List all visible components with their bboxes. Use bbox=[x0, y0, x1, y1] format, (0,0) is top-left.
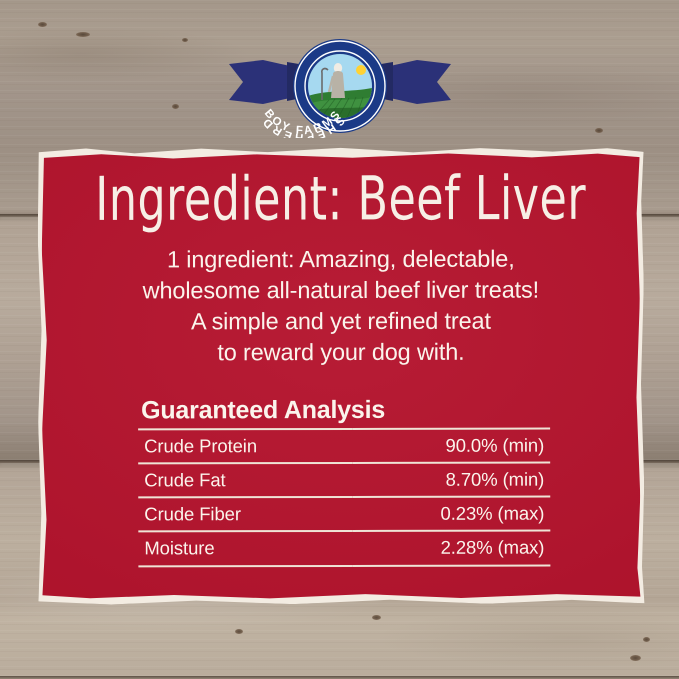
label-card-content: Ingredient: Beef Liver 1 ingredient: Ama… bbox=[42, 150, 641, 600]
nutrient-name: Crude Fat bbox=[138, 463, 352, 498]
description-line-3: A simple and yet refined treat bbox=[42, 305, 640, 337]
description-line-4: to reward your dog with. bbox=[42, 336, 640, 368]
nutrient-name: Crude Fiber bbox=[138, 497, 352, 532]
sun-icon bbox=[356, 65, 366, 75]
wood-knot bbox=[235, 629, 243, 634]
table-row: Moisture 2.28% (max) bbox=[138, 531, 550, 566]
table-row: Crude Protein 90.0% (min) bbox=[138, 429, 550, 464]
badge-scene bbox=[308, 54, 372, 118]
guaranteed-analysis-heading: Guaranteed Analysis bbox=[141, 395, 550, 426]
nutrient-name: Moisture bbox=[138, 531, 352, 566]
page-title: Ingredient: Beef Liver bbox=[89, 150, 591, 230]
guaranteed-analysis-table: Crude Protein 90.0% (min) Crude Fat 8.70… bbox=[138, 428, 550, 567]
description-line-2: wholesome all-natural beef liver treats! bbox=[42, 274, 640, 306]
nutrient-name: Crude Protein bbox=[138, 429, 352, 464]
shepherd-boy-farms-logo-icon: SHEPHERD BOY FARMS bbox=[225, 34, 455, 138]
nutrient-amount: 0.23% (max) bbox=[352, 497, 550, 532]
table-row: Crude Fiber 0.23% (max) bbox=[138, 497, 550, 532]
wood-knot bbox=[630, 655, 641, 661]
nutrient-amount: 90.0% (min) bbox=[352, 429, 550, 464]
guaranteed-analysis-section: Guaranteed Analysis Crude Protein 90.0% … bbox=[138, 395, 550, 567]
table-row: Crude Fat 8.70% (min) bbox=[138, 463, 550, 498]
wood-knot bbox=[643, 637, 650, 642]
brand-logo-container: SHEPHERD BOY FARMS bbox=[0, 34, 679, 138]
product-label-image: SHEPHERD BOY FARMS Ingredient: Beef Live… bbox=[0, 0, 679, 679]
description-line-1: 1 ingredient: Amazing, delectable, bbox=[42, 243, 640, 275]
nutrient-amount: 2.28% (max) bbox=[352, 531, 550, 566]
wood-knot bbox=[38, 22, 47, 27]
wood-knot bbox=[372, 615, 381, 620]
product-description: 1 ingredient: Amazing, delectable, whole… bbox=[42, 219, 640, 368]
nutrient-amount: 8.70% (min) bbox=[352, 463, 550, 498]
